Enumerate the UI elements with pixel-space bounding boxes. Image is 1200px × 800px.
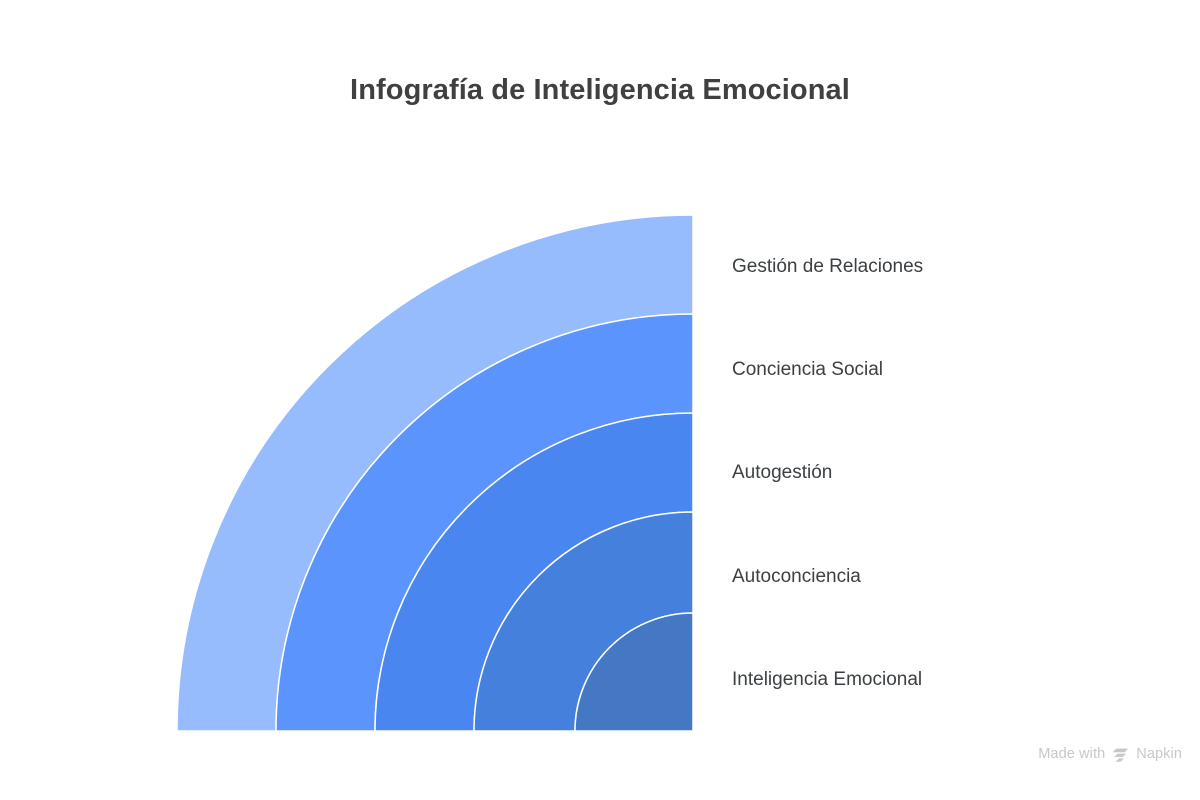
legend-item-label: Inteligencia Emocional <box>732 669 922 690</box>
watermark-prefix: Made with <box>1038 746 1105 762</box>
legend-item-autogestion[interactable]: Autogestión <box>732 462 832 484</box>
legend-item-label: Autoconciencia <box>732 566 861 587</box>
watermark-brand: Napkin <box>1136 746 1182 762</box>
legend-item-gestion-de-relaciones[interactable]: Gestión de Relaciones <box>732 256 923 278</box>
legend-item-label: Conciencia Social <box>732 359 883 380</box>
legend-item-label: Gestión de Relaciones <box>732 256 923 277</box>
legend-item-conciencia-social[interactable]: Conciencia Social <box>732 359 883 381</box>
legend: Gestión de Relaciones Conciencia Social … <box>732 0 1152 800</box>
ring-group <box>177 215 693 731</box>
napkin-logo-icon <box>1112 748 1129 763</box>
legend-item-label: Autogestión <box>732 462 832 483</box>
legend-item-autoconciencia[interactable]: Autoconciencia <box>732 566 861 588</box>
napkin-watermark[interactable]: Made with Napkin <box>1038 746 1182 762</box>
legend-item-inteligencia-emocional[interactable]: Inteligencia Emocional <box>732 669 922 691</box>
